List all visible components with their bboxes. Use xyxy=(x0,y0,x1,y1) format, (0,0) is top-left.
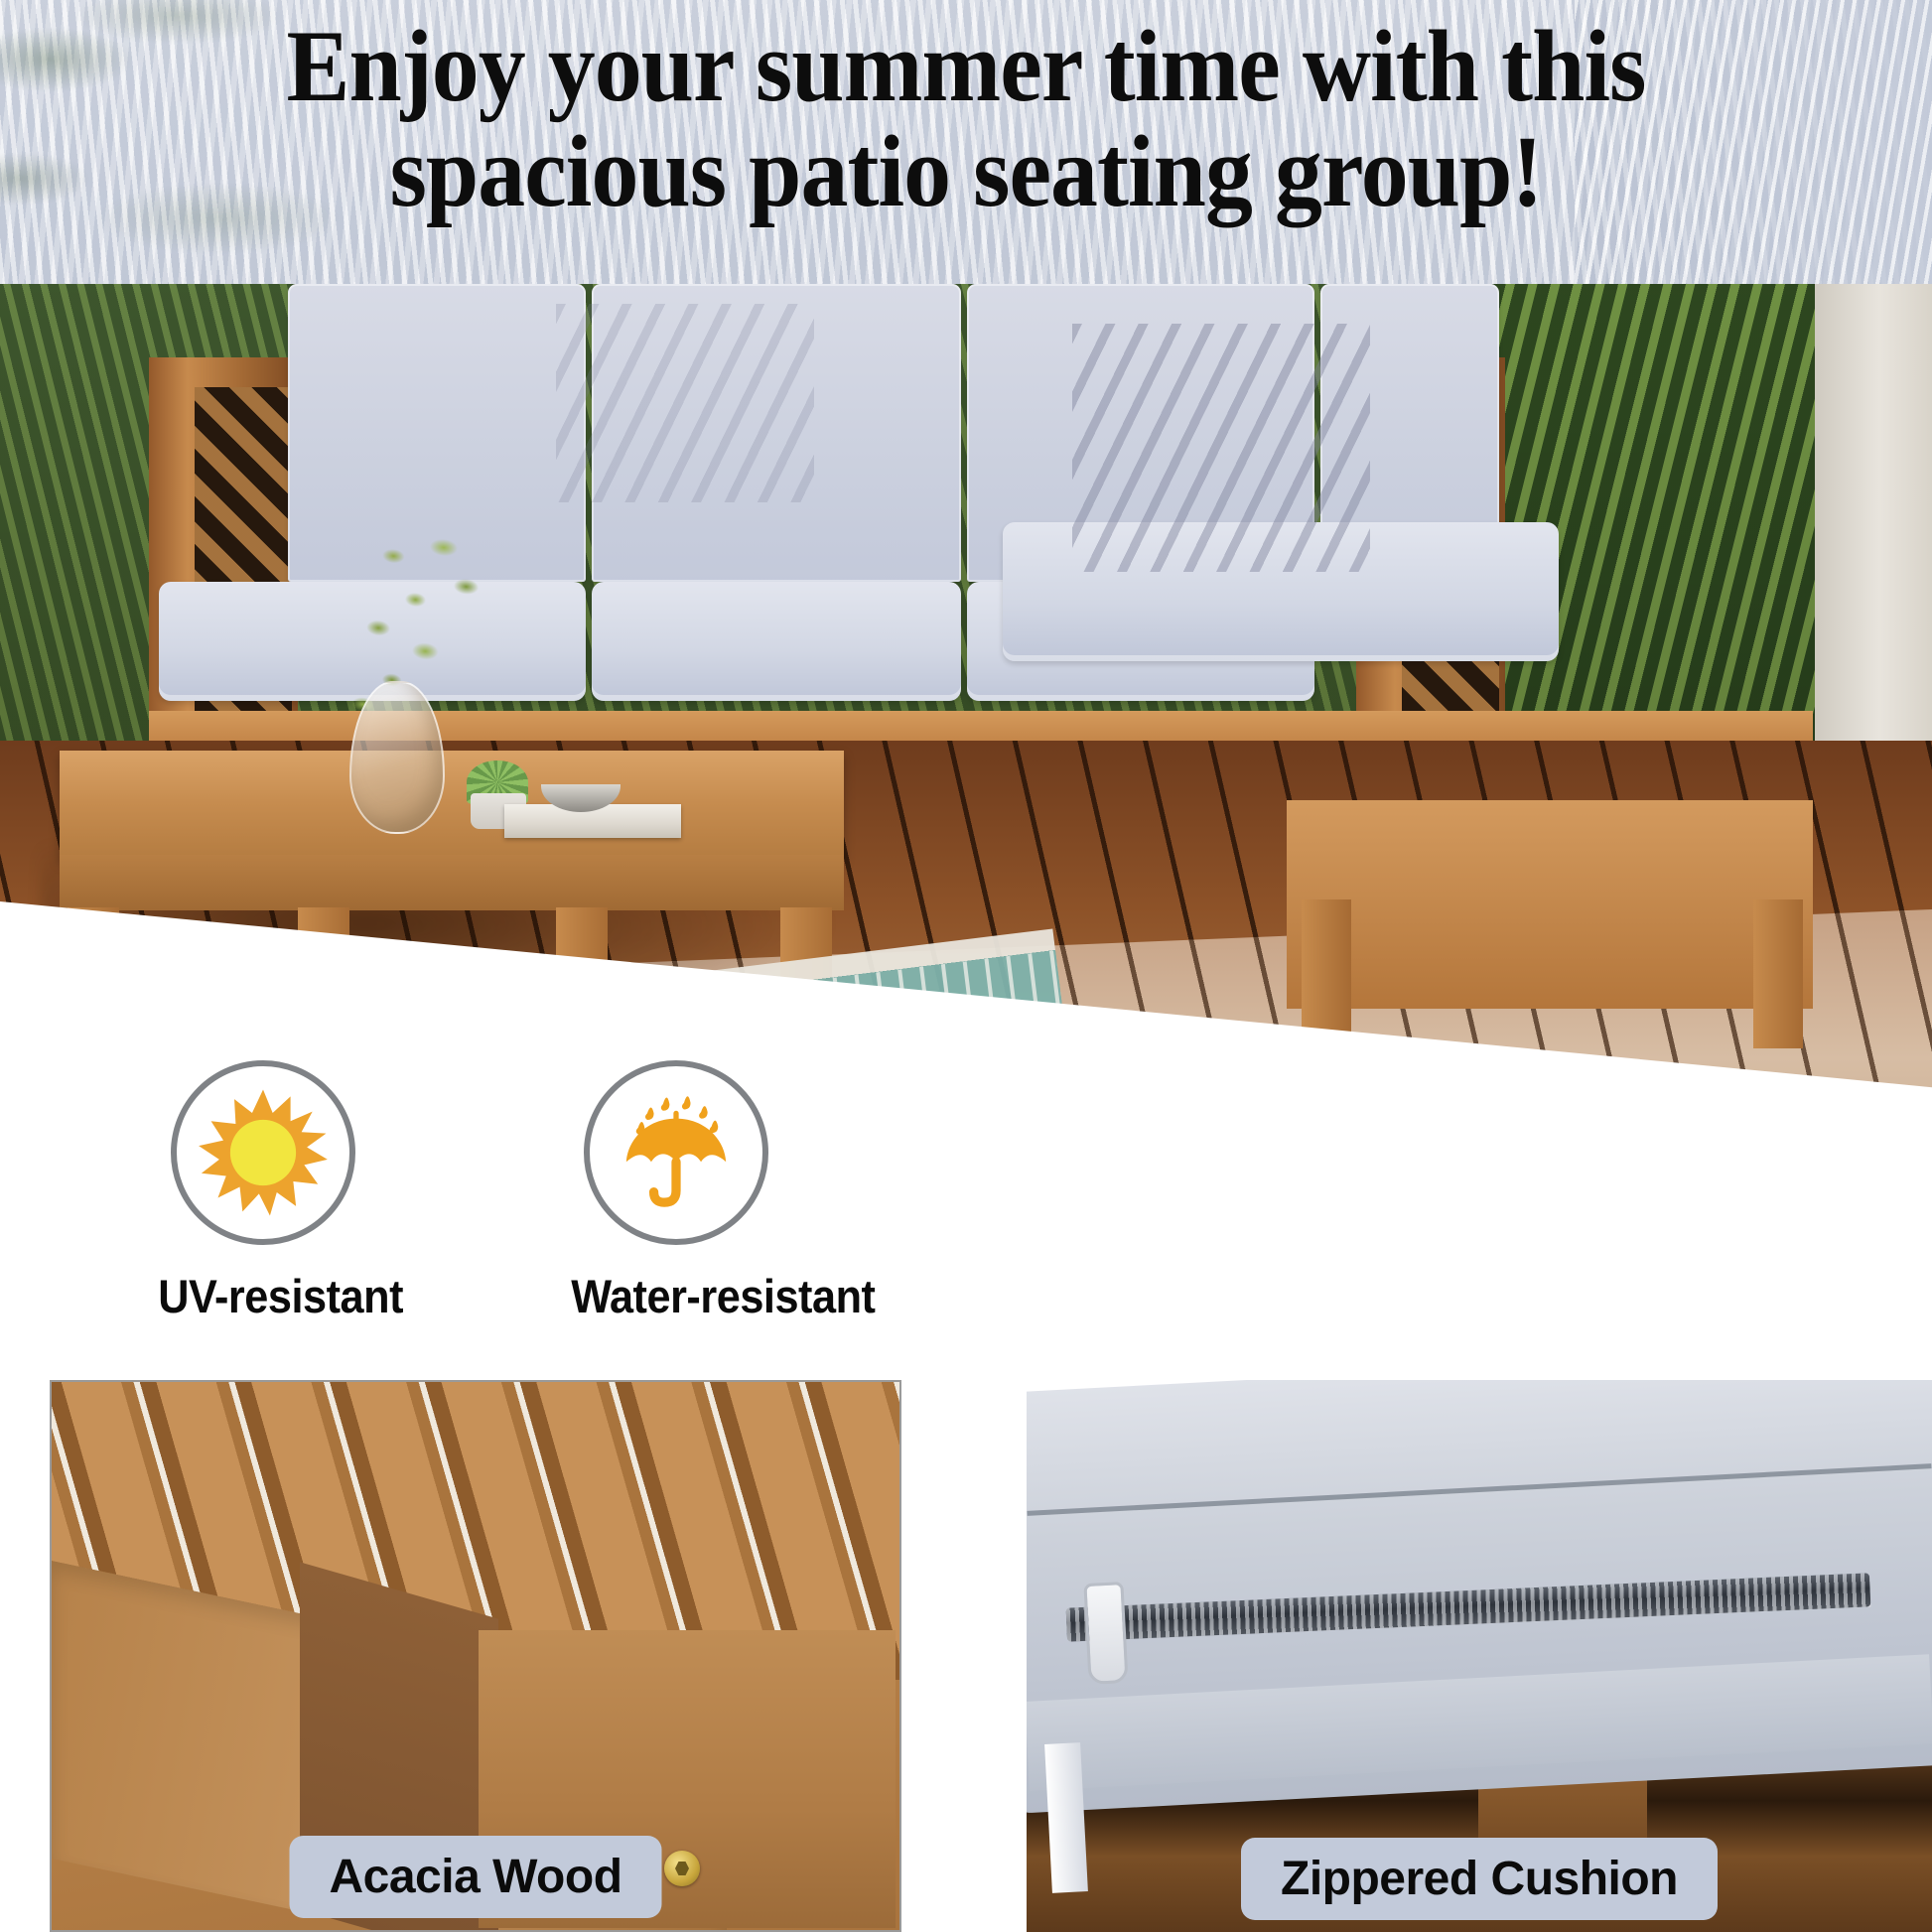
page-title: Enjoy your summer time with this spaciou… xyxy=(68,14,1864,224)
coffee-table-apron xyxy=(60,855,844,910)
feature-uv-resistant: UV-resistant xyxy=(149,1060,377,1323)
feature-label-uv-resistant: UV-resistant xyxy=(158,1269,368,1323)
seat-cushion-2 xyxy=(592,582,961,701)
detail-panel-acacia-wood: Acacia Wood xyxy=(50,1380,901,1932)
header-banner: Enjoy your summer time with this spaciou… xyxy=(0,0,1932,284)
detail-panel-zippered-cushion: Zippered Cushion xyxy=(1027,1380,1932,1932)
chaise-cushion xyxy=(1003,522,1559,661)
water-resistant-badge xyxy=(584,1060,768,1245)
uv-resistant-badge xyxy=(171,1060,355,1245)
caption-zippered-cushion: Zippered Cushion xyxy=(1241,1838,1718,1920)
chaise-leg-right xyxy=(1753,899,1803,1048)
headline-line-1: Enjoy your summer time with this xyxy=(287,10,1646,123)
back-cushion-2 xyxy=(592,284,961,582)
feature-water-resistant: Water-resistant xyxy=(562,1060,790,1323)
chaise-base xyxy=(1287,800,1813,1009)
caption-acacia-wood: Acacia Wood xyxy=(289,1836,661,1918)
brass-screw-icon xyxy=(664,1851,700,1886)
chaise-leg-left xyxy=(1302,899,1351,1048)
sun-icon xyxy=(195,1084,332,1221)
product-feature-poster: Enjoy your summer time with this spaciou… xyxy=(0,0,1932,1932)
zipper-pull-icon xyxy=(1083,1582,1128,1685)
headline-line-2: spacious patio seating group! xyxy=(132,119,1800,224)
umbrella-rain-icon xyxy=(611,1087,742,1218)
coffee-table-top xyxy=(60,751,844,860)
feature-label-water-resistant: Water-resistant xyxy=(571,1269,781,1323)
feature-badge-row: UV-resistant Water- xyxy=(149,1060,790,1323)
hero-product-photo xyxy=(0,284,1932,1158)
